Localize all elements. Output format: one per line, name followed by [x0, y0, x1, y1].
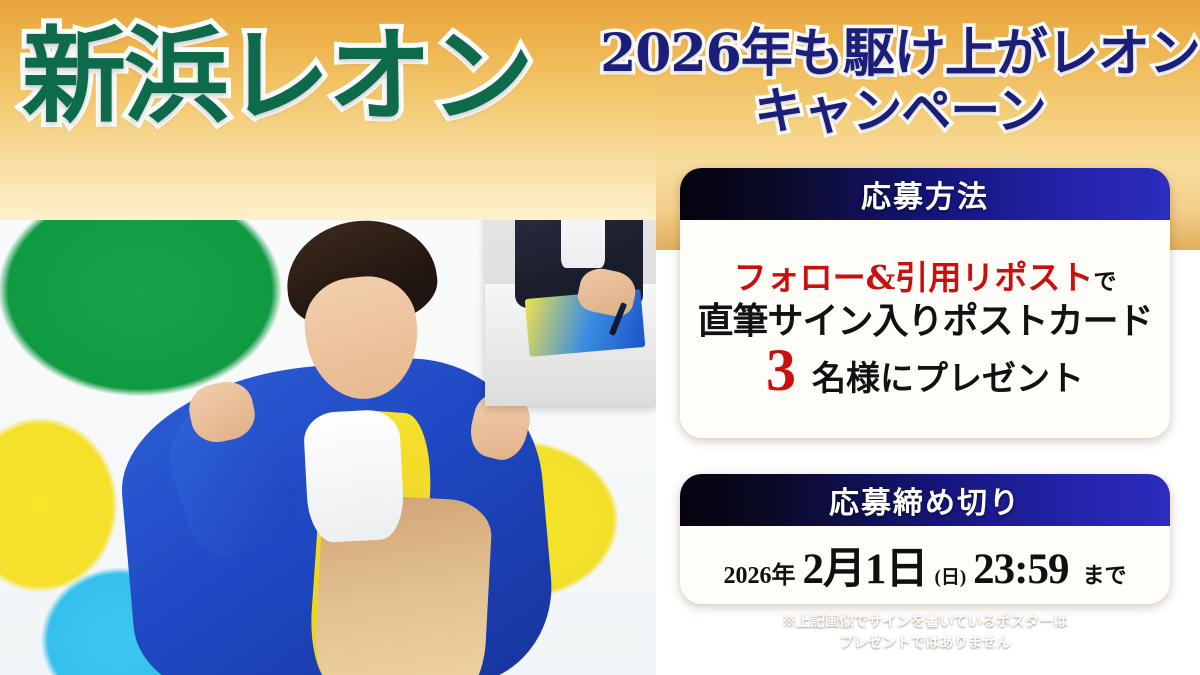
- application-method-header-text: 応募方法: [861, 172, 989, 216]
- deadline-time: 23:59: [973, 545, 1068, 594]
- prize-winner-count: 3: [766, 346, 796, 394]
- deadline-card: 応募締め切り 2026年 2月1日 (日) 23:59 まで: [680, 474, 1170, 604]
- campaign-title-line1: 2026年も駆け上がレオン: [600, 26, 1200, 82]
- deadline-day-of-week: (日): [935, 562, 967, 589]
- prize-description: 直筆サイン入りポストカード: [697, 301, 1152, 342]
- prize-quantity-line: 3 名様にプレゼント: [766, 346, 1084, 399]
- application-method-card: 応募方法 フォロー&引用リポストで 直筆サイン入りポストカード 3 名様にプレゼ…: [680, 168, 1170, 438]
- application-method-body: フォロー&引用リポストで 直筆サイン入りポストカード 3 名様にプレゼント: [680, 220, 1170, 438]
- white-shirt-shape: [303, 409, 406, 544]
- campaign-poster: 新浜レオン 2026年も駆け上がレオン キャンペーン 応募方法 フォロー&引用リ…: [0, 0, 1200, 675]
- campaign-title: 2026年も駆け上がレオン キャンペーン: [600, 26, 1200, 139]
- prize-quantity-tail: 名様にプレゼント: [812, 360, 1084, 399]
- deadline-header-text: 応募締め切り: [829, 478, 1021, 522]
- method-action-line: フォロー&引用リポストで: [734, 259, 1117, 297]
- campaign-title-line2: キャンペーン: [600, 82, 1200, 139]
- method-action-tail: で: [1093, 268, 1116, 295]
- application-method-header: 応募方法: [680, 168, 1170, 220]
- disclaimer-line2: プレゼントではありません: [680, 633, 1170, 654]
- disclaimer-line1: ※上記画像でサインを書いているポスターは: [680, 612, 1170, 633]
- deadline-body: 2026年 2月1日 (日) 23:59 まで: [680, 526, 1170, 604]
- deadline-header: 応募締め切り: [680, 474, 1170, 526]
- deadline-suffix: まで: [1082, 558, 1126, 590]
- deadline-datetime: 2026年 2月1日 (日) 23:59 まで: [724, 534, 1127, 596]
- disclaimer: ※上記画像でサインを書いているポスターは プレゼントではありません: [680, 612, 1170, 654]
- method-action-highlight: フォロー&引用リポスト: [734, 258, 1094, 297]
- artist-name: 新浜レオン: [22, 18, 532, 134]
- deadline-year: 2026年: [724, 555, 796, 590]
- deadline-date: 2月1日: [803, 534, 928, 596]
